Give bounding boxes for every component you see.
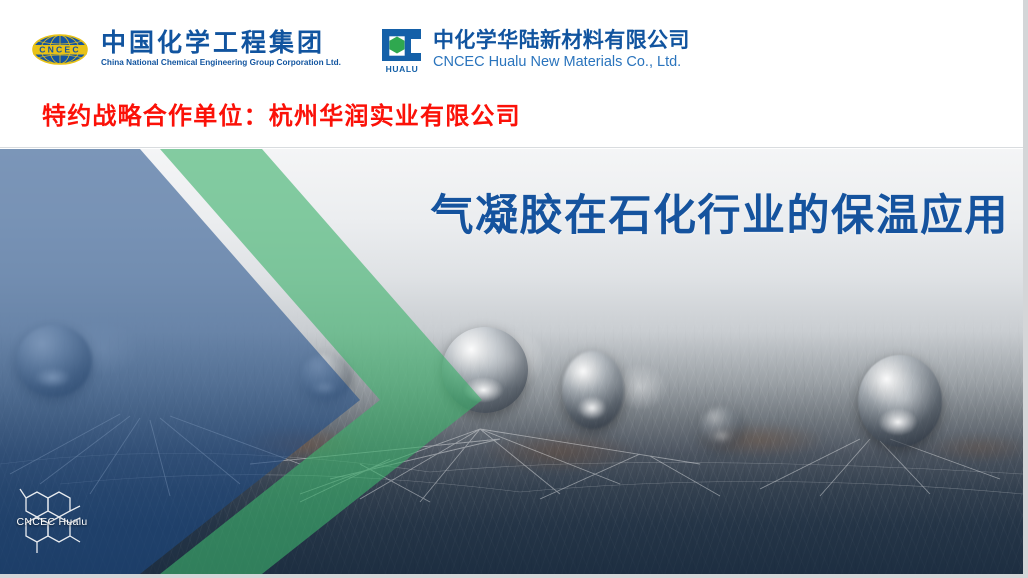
hualu-name-en: CNCEC Hualu New Materials Co., Ltd.	[433, 54, 690, 71]
logo-row: CNCEC 中国化学工程集团 China National Chemical E…	[0, 0, 1023, 86]
slide-header: CNCEC 中国化学工程集团 China National Chemical E…	[0, 0, 1023, 148]
hualu-logo-text: 中化学华陆新材料有限公司 CNCEC Hualu New Materials C…	[433, 27, 690, 71]
water-droplet	[562, 351, 624, 429]
cncec-name-en: China National Chemical Engineering Grou…	[101, 58, 341, 68]
partner-strategic-cooperation-line: 特约战略合作单位：杭州华润实业有限公司	[42, 96, 521, 131]
cncec-hualu-watermark: CNCEC Hualu	[6, 486, 98, 560]
slide-title: 气凝胶在石化行业的保温应用	[431, 181, 1010, 243]
cncec-name-cn: 中国化学工程集团	[101, 30, 341, 56]
cncec-group-logo: CNCEC 中国化学工程集团 China National Chemical E…	[26, 30, 341, 68]
hero-banner: 气凝胶在石化行业的保温应用 CNCEC Hualu	[0, 149, 1023, 574]
cncec-logo-text: 中国化学工程集团 China National Chemical Enginee…	[101, 30, 341, 68]
cncec-globe-emblem-icon: CNCEC	[26, 34, 94, 65]
svg-text:CNCEC: CNCEC	[39, 44, 81, 54]
hualu-hexagon-mark-icon: HUALU	[378, 27, 425, 73]
hualu-mark-label: HUALU	[379, 64, 425, 74]
watermark-label: CNCEC Hualu	[6, 516, 98, 528]
hualu-name-cn: 中化学华陆新材料有限公司	[433, 29, 690, 53]
water-droplet	[700, 407, 744, 447]
presentation-slide: CNCEC 中国化学工程集团 China National Chemical E…	[0, 0, 1028, 578]
cncec-hualu-logo: HUALU 中化学华陆新材料有限公司 CNCEC Hualu New Mater…	[378, 27, 690, 73]
water-droplet	[858, 355, 942, 447]
